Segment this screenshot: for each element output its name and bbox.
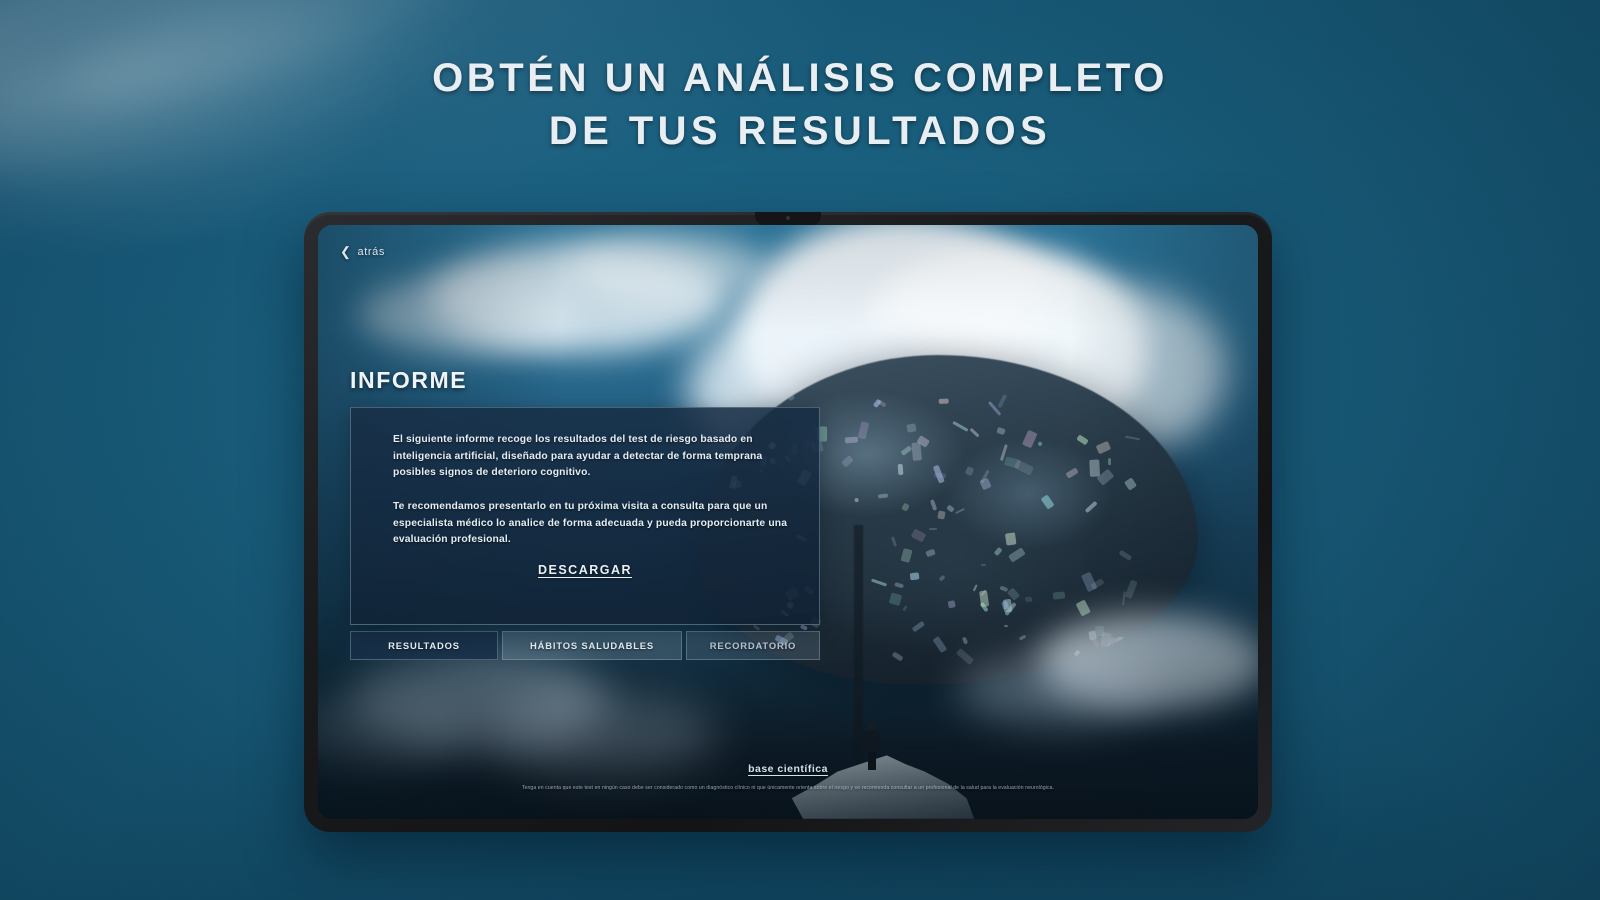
cloud-icon	[568, 233, 768, 303]
headline-line-1: OBTÉN UN ANÁLISIS COMPLETO	[432, 56, 1168, 100]
download-link[interactable]: DESCARGAR	[351, 563, 819, 577]
legal-disclaimer: Tenga en cuenta que este test en ningún …	[378, 785, 1198, 792]
tree-trunk-artwork	[854, 525, 863, 795]
tab-recordatorio[interactable]: RECORDATORIO	[686, 631, 820, 660]
page-headline: OBTÉN UN ANÁLISIS COMPLETO DE TUS RESULT…	[0, 52, 1600, 158]
back-button[interactable]: ❮ atrás	[340, 245, 385, 258]
tablet-screen: ❮ atrás INFORME El siguiente informe rec…	[318, 225, 1258, 819]
scientific-basis-link[interactable]: base científica	[318, 763, 1258, 775]
tablet-device-mockup: ❮ atrás INFORME El siguiente informe rec…	[304, 212, 1272, 832]
report-paragraph-2: Te recomendamos presentarlo en tu próxim…	[377, 499, 793, 549]
chevron-left-icon: ❮	[340, 245, 352, 258]
report-paragraph-1: El siguiente informe recoge los resultad…	[377, 432, 793, 482]
report-panel-wrapper: INFORME El siguiente informe recoge los …	[350, 367, 820, 660]
back-button-label: atrás	[358, 246, 385, 258]
tab-bar: RESULTADOS HÁBITOS SALUDABLES RECORDATOR…	[350, 631, 820, 660]
headline-line-2: DE TUS RESULTADOS	[0, 105, 1600, 158]
tab-habitos-saludables[interactable]: HÁBITOS SALUDABLES	[502, 631, 682, 660]
page-title: INFORME	[350, 367, 820, 394]
report-card: El siguiente informe recoge los resultad…	[350, 407, 820, 625]
cloud-icon	[958, 655, 1158, 725]
camera-lens-icon	[786, 216, 790, 220]
cloud-icon	[358, 275, 578, 353]
tab-resultados[interactable]: RESULTADOS	[350, 631, 498, 660]
person-body	[865, 730, 879, 754]
